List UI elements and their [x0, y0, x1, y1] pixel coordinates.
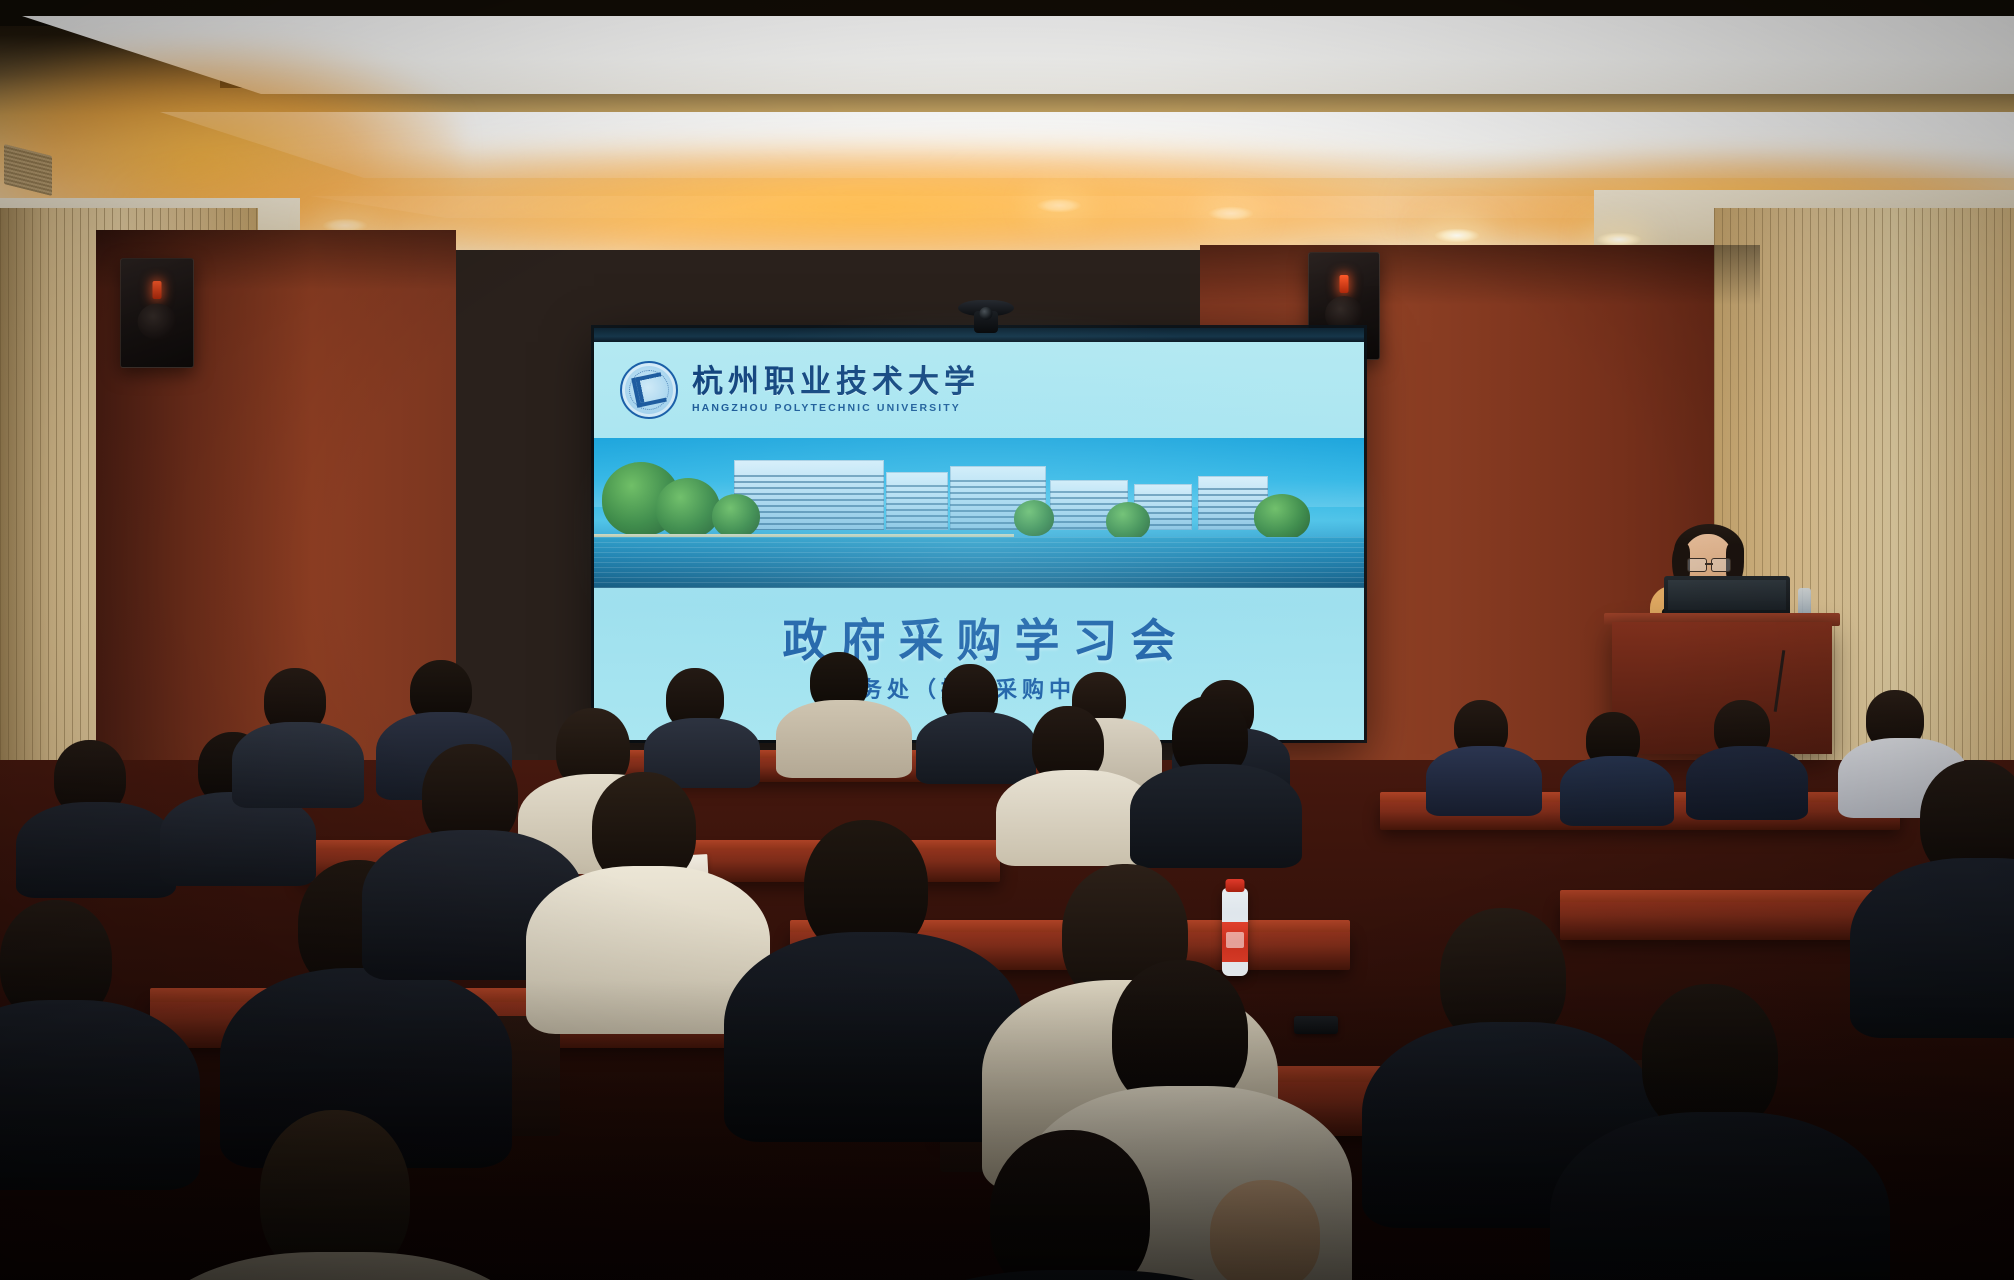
smartphone	[1294, 1016, 1338, 1034]
water-bottle	[1222, 888, 1248, 976]
downlight	[1208, 206, 1254, 221]
conference-hall-photo: 杭州职业技术大学 HANGZHOU POLYTECHNIC UNIVERSITY	[0, 0, 2014, 1280]
downlight	[1036, 198, 1082, 213]
downlight	[1434, 228, 1480, 243]
bottle-label	[1222, 922, 1248, 962]
camera-lens	[980, 307, 993, 320]
university-name-en: HANGZHOU POLYTECHNIC UNIVERSITY	[692, 403, 980, 414]
campus-photo	[594, 438, 1364, 588]
ceiling-ptz-camera	[958, 300, 1014, 316]
laptop-screen	[1668, 580, 1786, 610]
bottle-cap	[1226, 879, 1245, 892]
slide-header: 杭州职业技术大学 HANGZHOU POLYTECHNIC UNIVERSITY	[594, 342, 1364, 438]
ceiling	[0, 0, 2014, 250]
left-wall-speaker	[120, 258, 194, 368]
slide-title: 政府采购学习会	[594, 604, 1364, 669]
university-name-cn: 杭州职业技术大学	[692, 366, 980, 399]
speaker-power-led	[153, 281, 162, 299]
presenter-glasses	[1687, 558, 1731, 570]
speaker-cone	[138, 303, 177, 340]
university-seal-logo	[620, 361, 678, 419]
speaker-power-led	[1340, 275, 1349, 293]
university-name-block: 杭州职业技术大学 HANGZHOU POLYTECHNIC UNIVERSITY	[692, 366, 980, 415]
